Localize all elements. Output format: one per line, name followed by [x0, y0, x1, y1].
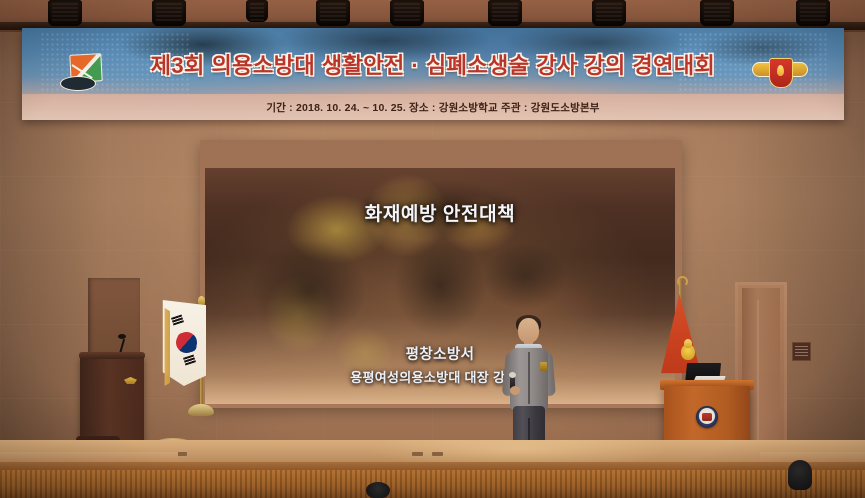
slide-credit-line2: 용평여성의용소방대 대장 강영하 — [205, 367, 675, 386]
projection-screen: 화재예방 안전대책 평창소방서 용평여성의용소방대 대장 강영하 — [205, 168, 675, 404]
microphone-head-icon — [118, 334, 126, 339]
stage-front-panel — [0, 470, 865, 498]
taegukgi-flag-icon — [160, 300, 212, 418]
stage-light-icon — [246, 0, 268, 22]
slide-title: 화재예방 안전대책 — [205, 199, 675, 226]
floor-speaker-icon — [788, 460, 812, 490]
fire-service-badge-icon — [696, 406, 718, 428]
lectern-emblem-icon — [124, 377, 137, 384]
stage-light-icon — [152, 0, 186, 26]
slide-credit-line1: 평창소방서 — [205, 343, 675, 364]
uniform-patch-icon — [540, 362, 547, 371]
stage-light-icon — [488, 0, 522, 26]
floor-speaker-icon — [366, 482, 390, 498]
banner-subtitle: 기간 : 2018. 10. 24. ~ 10. 25. 장소 : 강원소방학교… — [22, 100, 844, 115]
presenter-hand — [510, 386, 520, 395]
door-edge-line — [757, 300, 759, 450]
wall-control-panel[interactable] — [792, 342, 811, 361]
event-banner: 제3회 의용소방대 생활안전 · 심폐소생술 강사 강의 경연대회 기간 : 2… — [22, 28, 844, 120]
stage-light-icon — [592, 0, 626, 26]
banner-title: 제3회 의용소방대 생활안전 · 심폐소생술 강사 강의 경연대회 — [22, 48, 844, 80]
stage-floor-outlet — [412, 452, 423, 456]
stage-light-icon — [796, 0, 830, 26]
stage-light-icon — [48, 0, 82, 26]
stage-floor-outlet — [432, 452, 443, 456]
stage-light-icon — [700, 0, 734, 26]
stage-light-icon — [390, 0, 424, 26]
conference-hall-screenshot: 제3회 의용소방대 생활안전 · 심폐소생술 강사 강의 경연대회 기간 : 2… — [0, 0, 865, 498]
stage-light-icon — [316, 0, 350, 26]
slide-credit: 평창소방서 용평여성의용소방대 대장 강영하 — [205, 343, 675, 386]
